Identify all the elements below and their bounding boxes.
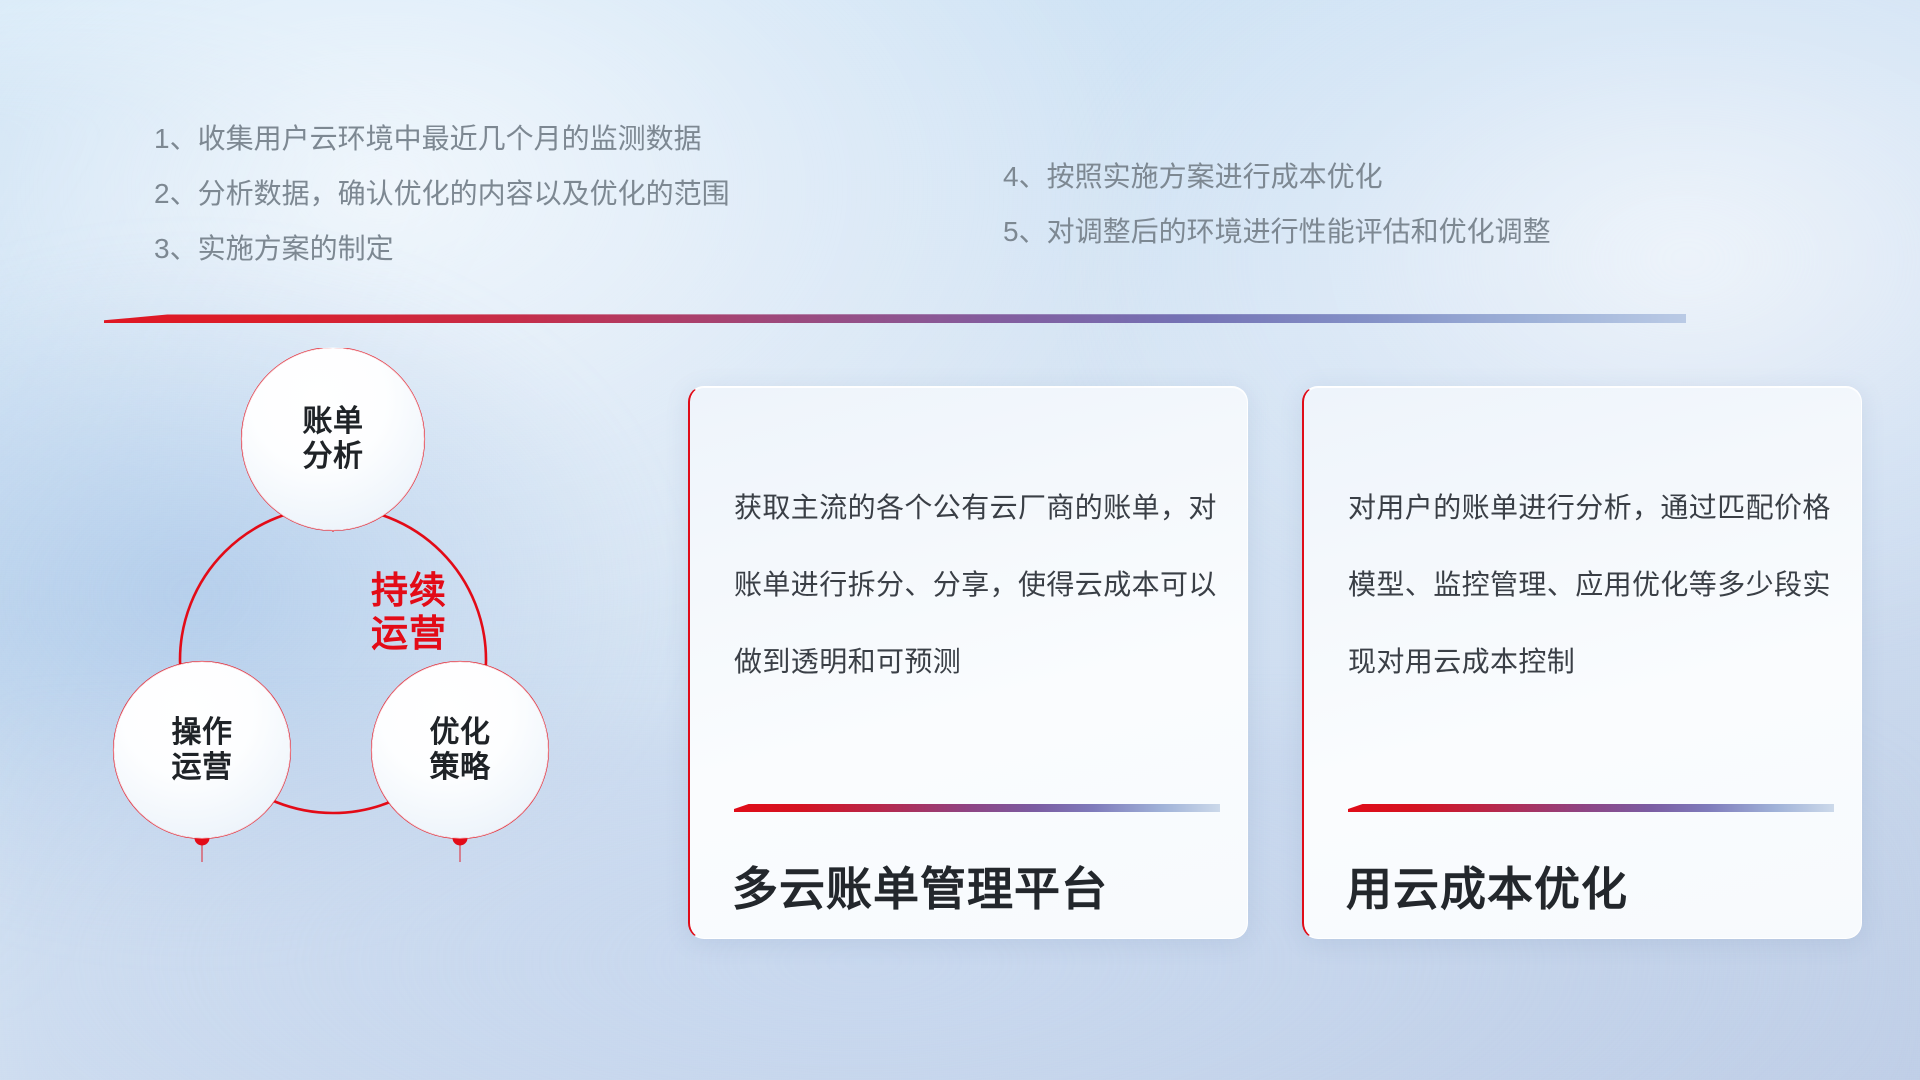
process-step-item: 1、收集用户云环境中最近几个月的监测数据 [154, 125, 730, 153]
card-body-text: 获取主流的各个公有云厂商的账单，对账单进行拆分、分享，使得云成本可以做到透明和可… [734, 469, 1217, 700]
diagram-bubble-optimization-strategy[interactable]: 优化 策略 [372, 662, 548, 838]
bubble-label-line1: 优化 [430, 715, 491, 750]
card-accent-line [1348, 804, 1834, 812]
process-steps-right-column: 4、按照实施方案进行成本优化 5、对调整后的环境进行性能评估和优化调整 [1003, 163, 1551, 246]
divider-gradient-line [104, 314, 1686, 323]
bubble-label-line2: 运营 [172, 750, 233, 785]
process-step-item: 2、分析数据，确认优化的内容以及优化的范围 [154, 180, 730, 208]
card-title: 多云账单管理平台 [732, 853, 1108, 919]
core-label-line2: 运营 [334, 613, 484, 656]
process-step-item: 5、对调整后的环境进行性能评估和优化调整 [1003, 218, 1551, 246]
bubble-label-line2: 分析 [303, 439, 364, 474]
feature-card-cloud-cost-optimization[interactable]: 对用户的账单进行分析，通过匹配价格模型、监控管理、应用优化等多少段实现对用云成本… [1302, 386, 1862, 939]
process-step-item: 4、按照实施方案进行成本优化 [1003, 163, 1551, 191]
bubble-label-line1: 账单 [303, 404, 364, 439]
card-accent-line [734, 804, 1220, 812]
card-title: 用云成本优化 [1346, 853, 1628, 919]
bubble-label-line2: 策略 [430, 750, 491, 785]
feature-card-multicloud-billing[interactable]: 获取主流的各个公有云厂商的账单，对账单进行拆分、分享，使得云成本可以做到透明和可… [688, 386, 1248, 939]
card-body-text: 对用户的账单进行分析，通过匹配价格模型、监控管理、应用优化等多少段实现对用云成本… [1348, 469, 1831, 700]
continuous-operations-diagram: 账单 分析 操作 运营 优化 策略 持续 运营 [96, 348, 636, 948]
bubble-label-line1: 操作 [172, 715, 233, 750]
section-divider [104, 314, 1686, 323]
diagram-bubble-bill-analysis[interactable]: 账单 分析 [242, 348, 424, 530]
diagram-core-label: 持续 运营 [334, 570, 484, 656]
diagram-bubble-operations[interactable]: 操作 运营 [114, 662, 290, 838]
process-step-item: 3、实施方案的制定 [154, 235, 730, 263]
process-steps-left-column: 1、收集用户云环境中最近几个月的监测数据 2、分析数据，确认优化的内容以及优化的… [154, 125, 730, 263]
core-label-line1: 持续 [334, 570, 484, 613]
